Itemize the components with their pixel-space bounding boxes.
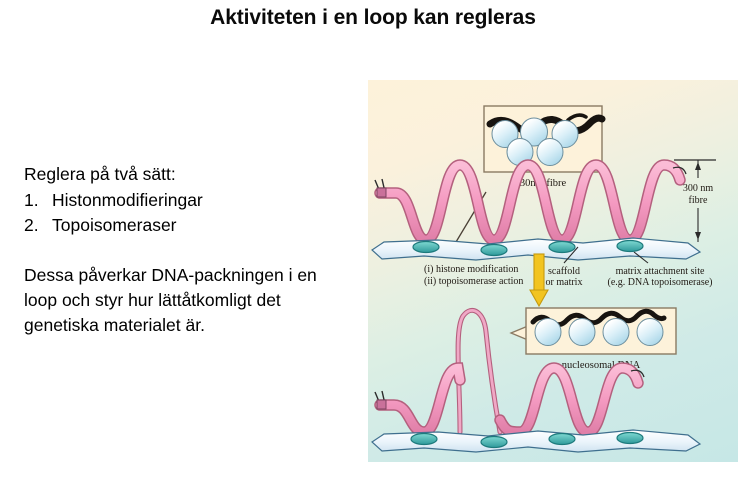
list-item-number: 1. [24, 188, 52, 213]
page-title: Aktiviteten i en loop kan regleras [0, 6, 746, 30]
list-item-number: 2. [24, 213, 52, 238]
nucleosome-bead [537, 139, 563, 166]
regulation-methods-list: 1. Histonmodifieringar 2. Topoisomeraser [24, 188, 344, 238]
summary-paragraph: Dessa påverkar DNA-packningen i en loop … [24, 263, 344, 338]
label-step-ii: (ii) topoisomerase action [424, 276, 523, 287]
label-matrix-line2: (e.g. DNA topoisomerase) [608, 277, 713, 288]
matrix-attachment-anchor [549, 242, 575, 253]
matrix-attachment-anchor [413, 242, 439, 253]
dna-free-end-marker [375, 179, 386, 197]
label-scaffold-line2: or matrix [546, 277, 583, 288]
matrix-attachment-anchor [617, 241, 643, 252]
body-text-block: Reglera på två sätt: 1. Histonmodifierin… [24, 162, 344, 338]
label-scaffold-line1: scaffold [548, 266, 580, 277]
matrix-attachment-anchor [549, 434, 575, 445]
fibre-300nm-strand [380, 165, 680, 240]
list-item-label: Histonmodifieringar [52, 188, 203, 213]
dna-free-end-marker [375, 391, 386, 409]
lead-text: Reglera på två sätt: [24, 162, 344, 187]
chromatin-loop-diagram: 30nm fibre [368, 80, 738, 462]
label-matrix-line1: matrix attachment site [616, 266, 705, 277]
label-300nm-line2: fibre [689, 195, 708, 206]
label-300nm-line1: 300 nm [683, 183, 714, 194]
list-item: 2. Topoisomeraser [24, 213, 344, 238]
matrix-attachment-anchor [617, 433, 643, 444]
nucleosome-bead [535, 319, 561, 346]
callout-nucleosomal-dna: nucleosomal DNA [511, 308, 676, 371]
transition-steps: (i) histone modification (ii) topoisomer… [424, 254, 548, 306]
label-step-i: (i) histone modification [424, 264, 518, 275]
nucleosome-bead [637, 319, 663, 346]
nucleosome-bead [603, 319, 629, 346]
list-item-label: Topoisomeraser [52, 213, 177, 238]
nucleosome-bead [569, 319, 595, 346]
list-item: 1. Histonmodifieringar [24, 188, 344, 213]
matrix-attachment-anchor [411, 434, 437, 445]
matrix-attachment-anchor [481, 437, 507, 448]
matrix-attachment-anchor [481, 245, 507, 256]
